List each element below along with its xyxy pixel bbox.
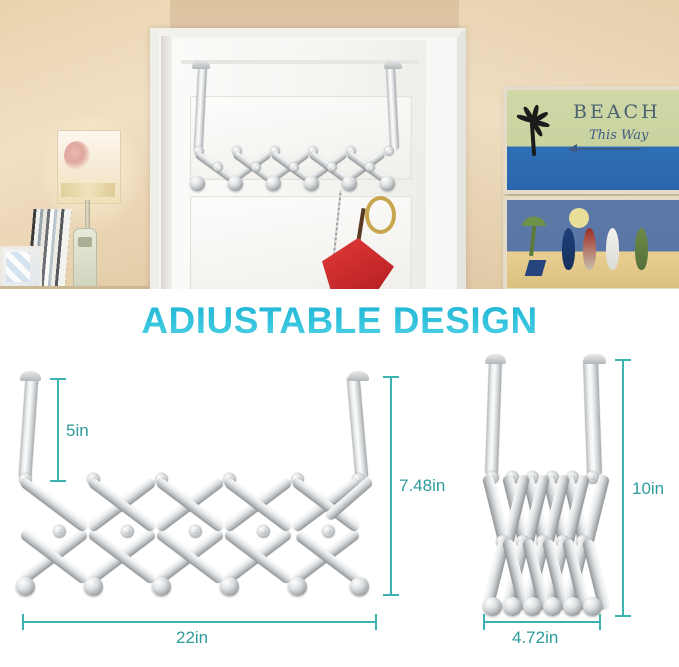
- door-hook-left: [20, 371, 41, 381]
- section-title: ADIUSTABLE DESIGN: [0, 300, 679, 342]
- surfboard: [583, 228, 596, 270]
- hanger-arm-left: [485, 359, 502, 475]
- expanded-rack-diagram: 5in 7.48in: [0, 345, 400, 667]
- hook-ball: [304, 176, 319, 191]
- beach-sign-subtitle: This Way: [589, 128, 648, 143]
- door-hook-right: [583, 354, 606, 364]
- surfboard: [635, 228, 648, 270]
- surfboard-artwork: [503, 196, 679, 289]
- dimension-diagrams: 5in 7.48in: [0, 345, 679, 667]
- dimension-line-22in: [22, 621, 377, 623]
- lattice-bar: [19, 477, 89, 533]
- hook-ball: [523, 597, 542, 616]
- picture-frame: [0, 246, 42, 289]
- lattice-joint-mid: [53, 525, 66, 538]
- product-infographic: BEACH This Way: [0, 0, 679, 667]
- hook-ball: [288, 577, 307, 596]
- beach-chair: [525, 260, 547, 276]
- lattice-joint-mid: [121, 525, 134, 538]
- hook-ball: [483, 597, 502, 616]
- shelf-edge: [0, 286, 150, 289]
- hook-ball: [563, 597, 582, 616]
- hook-ball: [266, 176, 281, 191]
- hook-ball: [16, 577, 35, 596]
- dimension-label-5in: 5in: [66, 421, 89, 441]
- dimension-label-10in: 10in: [632, 479, 664, 499]
- lattice-joint: [384, 146, 394, 156]
- hanger-arm-left: [194, 64, 207, 150]
- palm-leaves-icon: [515, 108, 553, 132]
- lattice-joint-mid: [327, 162, 337, 172]
- dimension-line-5in: [57, 378, 59, 482]
- lattice-joint-mid: [213, 162, 223, 172]
- surfboard: [606, 228, 619, 270]
- sun-icon: [569, 208, 589, 228]
- dimension-label-4-72in: 4.72in: [512, 628, 558, 648]
- door-hook-right: [384, 60, 402, 69]
- lattice-joint-mid: [189, 525, 202, 538]
- hanger-arm-left: [18, 376, 38, 479]
- palm-leaves-icon-2: [519, 214, 549, 226]
- lifestyle-photo: BEACH This Way: [0, 0, 679, 289]
- dimension-line-7-48in: [390, 376, 392, 596]
- mounted-hook-rack: [190, 66, 406, 196]
- cordless-phone: [73, 228, 97, 289]
- key-ring-icon: [365, 196, 396, 234]
- hook-ball: [350, 577, 369, 596]
- lamp-shade-icon: [57, 130, 121, 204]
- beach-sign-artwork: BEACH This Way: [503, 86, 679, 194]
- door-hook-left: [192, 60, 210, 69]
- hook-ball: [220, 577, 239, 596]
- lattice-joint-mid: [257, 525, 270, 538]
- lattice-joint-mid: [251, 162, 261, 172]
- hook-ball: [503, 597, 522, 616]
- left-arrow-icon: [569, 148, 641, 150]
- door-hook-left: [485, 354, 506, 364]
- hook-ball: [228, 176, 243, 191]
- hook-ball: [342, 176, 357, 191]
- lattice-joint-mid: [322, 525, 335, 538]
- dimension-label-7-48in: 7.48in: [399, 476, 445, 496]
- door-edge: [161, 36, 172, 289]
- hook-ball: [380, 176, 395, 191]
- hanger-arm-right: [347, 376, 369, 479]
- lattice-joint-mid: [289, 162, 299, 172]
- hook-ball: [190, 176, 205, 191]
- beach-sign-title: BEACH: [573, 101, 661, 123]
- hanger-arm-right: [583, 359, 602, 475]
- hanger-arm-right: [386, 64, 399, 150]
- hook-ball: [84, 577, 103, 596]
- lattice-joint-mid: [365, 162, 375, 172]
- hook-ball: [152, 577, 171, 596]
- dimension-label-22in: 22in: [176, 628, 208, 648]
- dimension-line-10in: [622, 359, 624, 617]
- door-hook-right: [348, 371, 369, 381]
- dimension-line-4-72in: [483, 621, 601, 623]
- collapsed-rack-diagram: 10in 4.72in: [455, 345, 679, 667]
- surfboard: [562, 228, 575, 270]
- door-top-rail: [181, 60, 419, 64]
- hook-ball: [543, 597, 562, 616]
